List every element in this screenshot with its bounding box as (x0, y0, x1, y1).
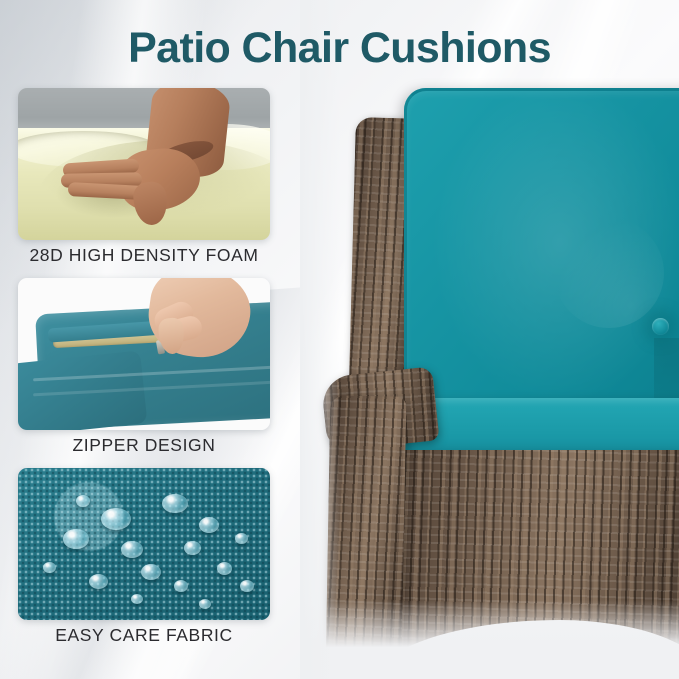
photo-left-fade (300, 0, 340, 679)
feature-card-high-density-foam (18, 88, 270, 240)
patio-chair-photo (300, 0, 679, 679)
water-droplet (101, 508, 131, 530)
feature-caption-easy-care-fabric: EASY CARE FABRIC (0, 625, 288, 646)
infographic-canvas: Patio Chair Cushions 28D HIGH DENSITY FO… (0, 0, 679, 679)
foam-press-photo (18, 88, 270, 240)
page-title: Patio Chair Cushions (0, 20, 679, 76)
fabric-weave-texture (18, 468, 270, 620)
water-bead-photo (18, 468, 270, 620)
cushion-piping (404, 88, 679, 443)
feature-caption-high-density-foam: 28D HIGH DENSITY FOAM (0, 245, 288, 266)
water-droplet (89, 574, 108, 589)
water-droplet (162, 494, 188, 513)
feature-card-easy-care-fabric (18, 468, 270, 620)
cushion-fold (554, 218, 664, 328)
floor-fade (300, 600, 679, 679)
back-cushion (404, 88, 679, 440)
zipper-photo (18, 278, 270, 430)
water-droplet (199, 517, 219, 533)
water-droplet (63, 529, 89, 549)
feature-caption-zipper-design: ZIPPER DESIGN (0, 435, 288, 456)
feature-card-zipper-design (18, 278, 270, 430)
tufted-button (652, 318, 669, 335)
